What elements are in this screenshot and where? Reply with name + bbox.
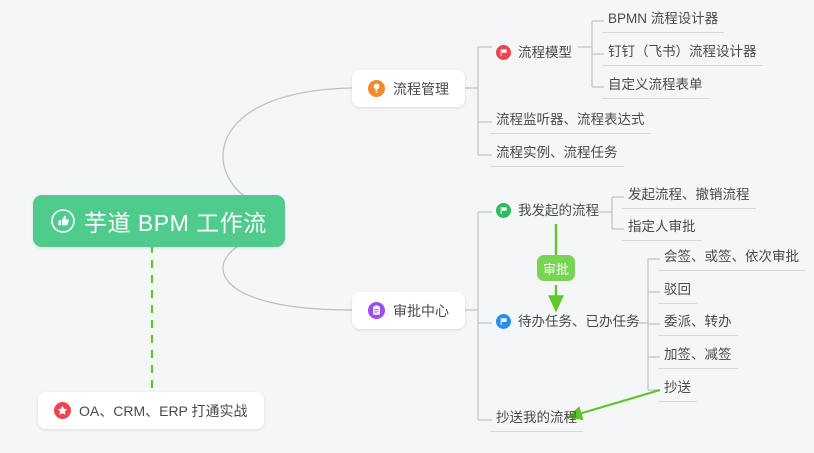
root-label: 芋道 BPM 工作流 (84, 204, 267, 238)
flag-icon (496, 314, 511, 329)
branch-node-process-management[interactable]: 流程管理 (352, 70, 465, 107)
node-add-remove-sign[interactable]: 加签、减签 (658, 346, 738, 369)
integration-note-label: OA、CRM、ERP 打通实战 (79, 401, 248, 421)
node-cc-to-me-process[interactable]: 抄送我的流程 (490, 409, 583, 432)
node-reject[interactable]: 驳回 (658, 281, 697, 304)
node-todo-done-tasks[interactable]: 待办任务、已办任务 (490, 312, 646, 335)
approval-flow-badge[interactable]: 审批 (537, 255, 575, 281)
node-label-process-listener-expression: 流程监听器、流程表达式 (496, 113, 645, 127)
node-label-my-initiated-process: 我发起的流程 (518, 204, 599, 218)
flag-icon (496, 45, 511, 60)
node-custom-process-form[interactable]: 自定义流程表单 (602, 76, 709, 99)
node-bpmn-designer[interactable]: BPMN 流程设计器 (602, 10, 724, 33)
node-cc[interactable]: 抄送 (658, 379, 697, 402)
branch-node-approval-center[interactable]: 审批中心 (352, 292, 465, 329)
node-label-delegate-transfer: 委派、转办 (664, 315, 732, 329)
node-label-process-instance-task: 流程实例、流程任务 (496, 146, 618, 160)
node-label-assignee-approval: 指定人审批 (628, 220, 696, 234)
node-label-custom-process-form: 自定义流程表单 (608, 78, 703, 92)
node-label-cc-to-me-process: 抄送我的流程 (496, 411, 577, 425)
node-label-countersign-orsign-sequential: 会签、或签、依次审批 (664, 250, 799, 264)
node-assignee-approval[interactable]: 指定人审批 (622, 218, 702, 241)
node-process-model[interactable]: 流程模型 (490, 43, 578, 66)
node-label-start-cancel-process: 发起流程、撤销流程 (628, 188, 750, 202)
integration-note-node[interactable]: OA、CRM、ERP 打通实战 (38, 392, 264, 429)
node-label-todo-done-tasks: 待办任务、已办任务 (518, 315, 640, 329)
node-label-reject: 驳回 (664, 283, 691, 297)
node-process-listener-expression[interactable]: 流程监听器、流程表达式 (490, 111, 651, 134)
node-dingtalk-feishu-designer[interactable]: 钉钉（飞书）流程设计器 (602, 43, 763, 66)
node-label-dingtalk-feishu-designer: 钉钉（飞书）流程设计器 (608, 45, 757, 59)
node-label-add-remove-sign: 加签、减签 (664, 348, 732, 362)
approval-flow-badge-label: 审批 (543, 259, 569, 278)
root-node[interactable]: 芋道 BPM 工作流 (33, 195, 285, 247)
mindmap-canvas: 芋道 BPM 工作流 流程管理 流程模型 流程监听器、流程表达式 流程实例、流 (0, 0, 814, 453)
node-delegate-transfer[interactable]: 委派、转办 (658, 313, 738, 336)
node-my-initiated-process[interactable]: 我发起的流程 (490, 201, 605, 224)
node-process-instance-task[interactable]: 流程实例、流程任务 (490, 144, 624, 167)
node-label-bpmn-designer: BPMN 流程设计器 (608, 12, 718, 26)
lightbulb-icon (368, 80, 385, 97)
star-icon (54, 402, 71, 419)
node-label-cc: 抄送 (664, 381, 691, 395)
node-start-cancel-process[interactable]: 发起流程、撤销流程 (622, 186, 756, 209)
node-label-process-model: 流程模型 (518, 46, 572, 60)
clipboard-icon (368, 302, 385, 319)
node-countersign-orsign-sequential[interactable]: 会签、或签、依次审批 (658, 248, 805, 271)
branch-label-approval-center: 审批中心 (393, 301, 449, 321)
branch-label-process-management: 流程管理 (393, 79, 449, 99)
flag-icon (496, 203, 511, 218)
thumbs-up-icon (51, 209, 75, 233)
